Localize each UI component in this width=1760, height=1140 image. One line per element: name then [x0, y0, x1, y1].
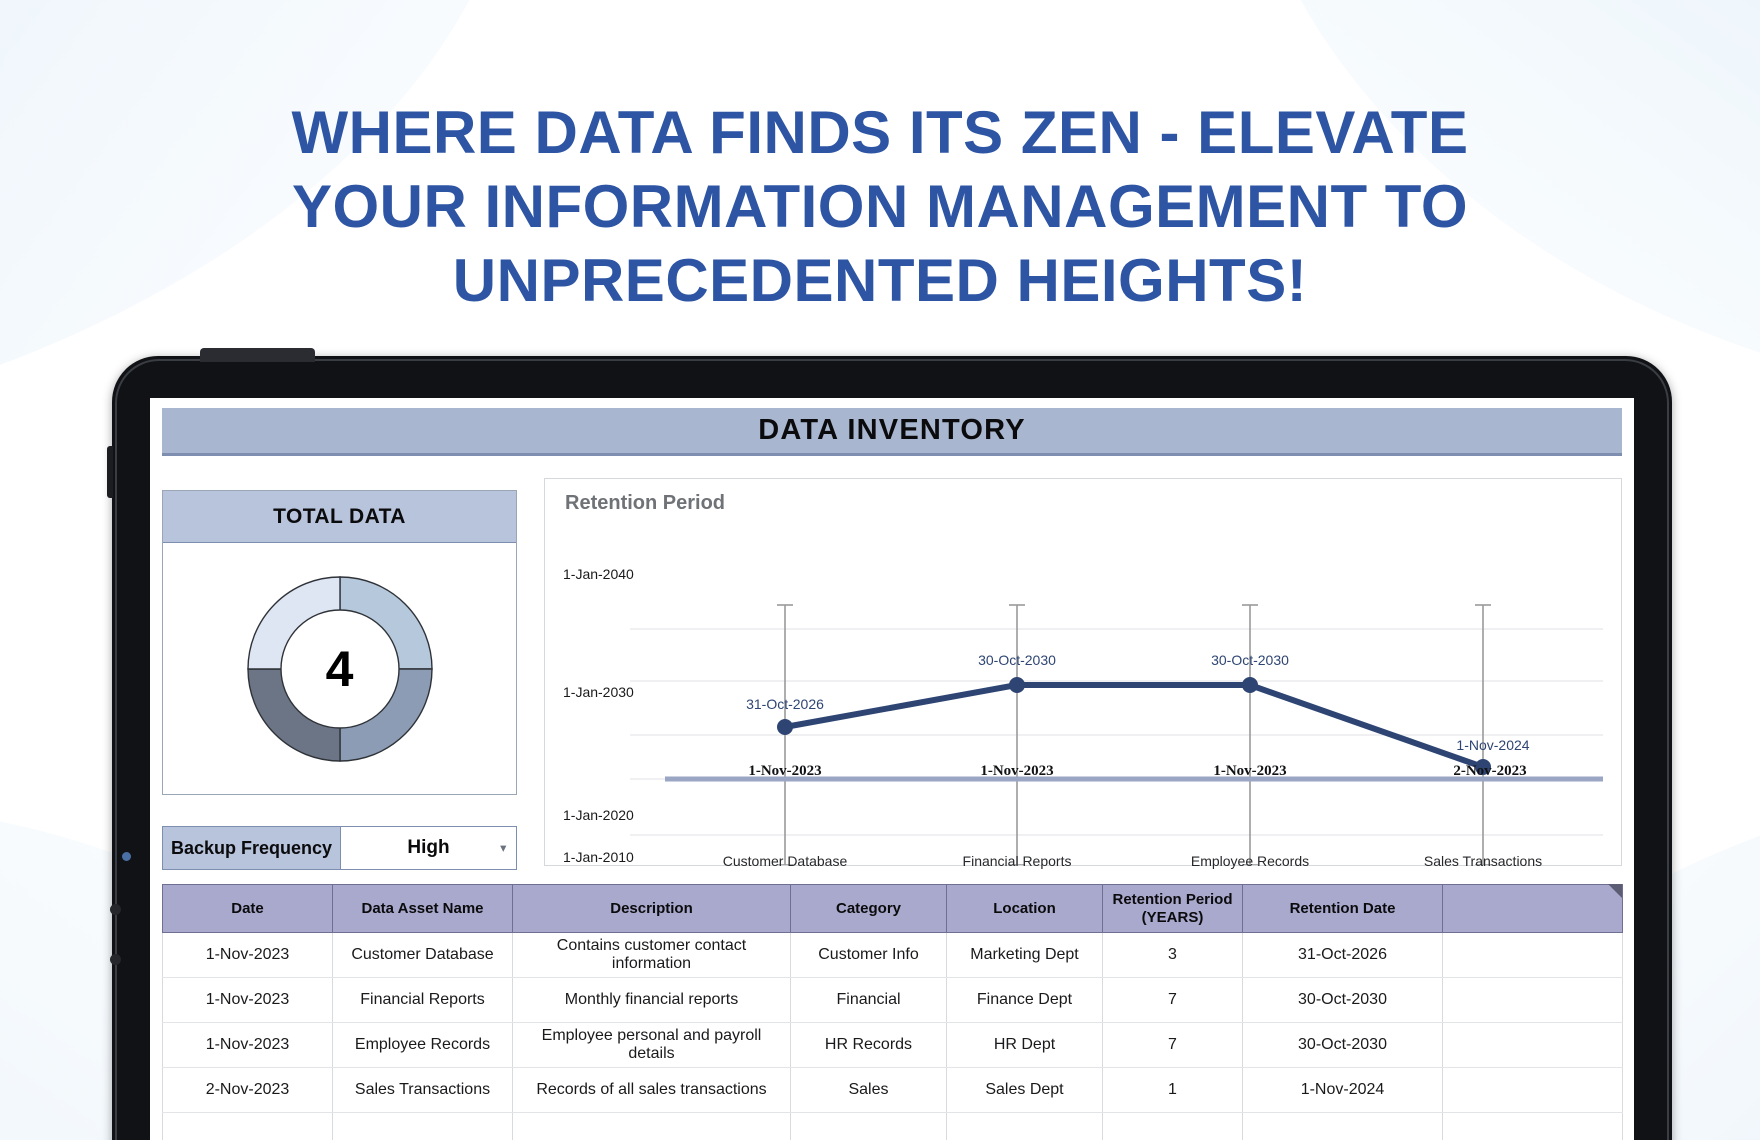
cell-date: [163, 1113, 333, 1140]
table-corner-fold-icon: [1608, 884, 1622, 898]
backup-frequency-select[interactable]: High ▾: [341, 827, 516, 869]
cell-date: 1-Nov-2023: [163, 933, 333, 978]
headline-line-1: WHERE DATA FINDS ITS ZEN - ELEVATE: [0, 96, 1760, 170]
chart-retention-label-0: 31-Oct-2026: [746, 696, 824, 712]
chart-date-label-1: 1-Nov-2023: [980, 763, 1053, 779]
chevron-down-icon[interactable]: ▾: [500, 842, 506, 855]
table-header-extra[interactable]: [1443, 885, 1623, 933]
backup-frequency-control[interactable]: Backup Frequency High ▾: [162, 826, 517, 870]
table-header-desc[interactable]: Description: [513, 885, 791, 933]
chart-ytick-1: 1-Jan-2030: [563, 684, 634, 700]
chart-y-axis-labels: 1-Jan-2040 1-Jan-2030 1-Jan-2020 1-Jan-2…: [563, 566, 634, 865]
page-headline: WHERE DATA FINDS ITS ZEN - ELEVATE YOUR …: [0, 96, 1760, 318]
cell-name: Sales Transactions: [333, 1068, 513, 1113]
table-row[interactable]: 2-Nov-2023 Sales Transactions Records of…: [163, 1068, 1623, 1113]
cell-retention-years: 3: [1103, 933, 1243, 978]
chart-ytick-2: 1-Jan-2020: [563, 807, 634, 823]
chart-date-label-3: 2-Nov-2023: [1453, 763, 1526, 779]
page-title: DATA INVENTORY: [758, 414, 1026, 447]
chart-retention-label-3: 1-Nov-2024: [1456, 737, 1529, 753]
cell-location: Sales Dept: [947, 1068, 1103, 1113]
cell-date: 1-Nov-2023: [163, 1023, 333, 1068]
chart-ytick-3: 1-Jan-2010: [563, 849, 634, 865]
table-row[interactable]: 1-Nov-2023 Financial Reports Monthly fin…: [163, 978, 1623, 1023]
headline-line-3: UNPRECEDENTED HEIGHTS!: [0, 244, 1760, 318]
cell-description: Records of all sales transactions: [513, 1068, 791, 1113]
tablet-camera-icon: [122, 852, 131, 861]
cell-extra: [1443, 1068, 1623, 1113]
cell-description: Contains customer contact information: [513, 933, 791, 978]
table-row[interactable]: 1-Nov-2023 Customer Database Contains cu…: [163, 933, 1623, 978]
tablet-screen: DATA INVENTORY TOTAL DATA: [150, 398, 1634, 1140]
cell-category: Customer Info: [791, 933, 947, 978]
cell-name: Employee Records: [333, 1023, 513, 1068]
cell-category: Sales: [791, 1068, 947, 1113]
cell-name: Customer Database: [333, 933, 513, 978]
cell-location: Finance Dept: [947, 978, 1103, 1023]
table-header-retention-date[interactable]: Retention Date: [1243, 885, 1443, 933]
data-inventory-table: Date Data Asset Name Description Categor…: [162, 884, 1622, 1140]
cell-retention-years: 1: [1103, 1068, 1243, 1113]
total-data-card-header: TOTAL DATA: [163, 491, 516, 543]
chart-retention-label-2: 30-Oct-2030: [1211, 652, 1289, 668]
cell-retention-date: 30-Oct-2030: [1243, 1023, 1443, 1068]
cell-date: 2-Nov-2023: [163, 1068, 333, 1113]
cell-description: Monthly financial reports: [513, 978, 791, 1023]
retention-chart-svg: 1-Jan-2040 1-Jan-2030 1-Jan-2020 1-Jan-2…: [545, 517, 1623, 865]
table-body: 1-Nov-2023 Customer Database Contains cu…: [163, 933, 1623, 1140]
total-data-donut-chart: 4: [163, 543, 516, 795]
table-header-name[interactable]: Data Asset Name: [333, 885, 513, 933]
cell-retention-date: 1-Nov-2024: [1243, 1068, 1443, 1113]
table-header-location[interactable]: Location: [947, 885, 1103, 933]
cell-extra: [1443, 1113, 1623, 1140]
total-data-card: TOTAL DATA: [162, 490, 517, 795]
retention-period-chart-panel: Retention Period: [544, 478, 1622, 866]
chart-plot-area: 1-Jan-2040 1-Jan-2030 1-Jan-2020 1-Jan-2…: [545, 517, 1623, 865]
chart-xtick-2: Employee Records: [1191, 853, 1309, 869]
chart-series-retention-points: [777, 677, 1491, 775]
cell-retention-years: [1103, 1113, 1243, 1140]
cell-location: [947, 1113, 1103, 1140]
cell-extra: [1443, 978, 1623, 1023]
cell-name: Financial Reports: [333, 978, 513, 1023]
headline-line-2: YOUR INFORMATION MANAGEMENT TO: [0, 170, 1760, 244]
chart-retention-point-labels: 31-Oct-2026 30-Oct-2030 30-Oct-2030 1-No…: [746, 652, 1530, 753]
dashboard-title-bar: DATA INVENTORY: [162, 408, 1622, 456]
cell-extra: [1443, 1023, 1623, 1068]
chart-xtick-1: Financial Reports: [963, 853, 1072, 869]
cell-category: Financial: [791, 978, 947, 1023]
tablet-device: DATA INVENTORY TOTAL DATA: [112, 356, 1672, 1140]
chart-ytick-0: 1-Jan-2040: [563, 566, 634, 582]
donut-center-value: 4: [163, 640, 516, 698]
cell-extra: [1443, 933, 1623, 978]
backup-frequency-label: Backup Frequency: [163, 827, 341, 869]
tablet-side-dot-1: [110, 904, 121, 915]
table-header-row: Date Data Asset Name Description Categor…: [163, 885, 1623, 933]
chart-retention-label-1: 30-Oct-2030: [978, 652, 1056, 668]
chart-date-label-0: 1-Nov-2023: [748, 763, 821, 779]
table-header-category[interactable]: Category: [791, 885, 947, 933]
chart-xtick-3: Sales Transactions: [1424, 853, 1542, 869]
cell-retention-years: 7: [1103, 1023, 1243, 1068]
cell-retention-years: 7: [1103, 978, 1243, 1023]
backup-frequency-value: High: [407, 837, 449, 859]
cell-retention-date: 30-Oct-2030: [1243, 978, 1443, 1023]
chart-series-retention-line: [785, 685, 1483, 767]
total-data-card-title: TOTAL DATA: [273, 505, 406, 529]
tablet-volume-button[interactable]: [107, 446, 113, 498]
cell-name: [333, 1113, 513, 1140]
cell-description: [513, 1113, 791, 1140]
table-header-date[interactable]: Date: [163, 885, 333, 933]
cell-description: Employee personal and payroll details: [513, 1023, 791, 1068]
chart-xtick-0: Customer Database: [723, 853, 848, 869]
chart-gridlines: [630, 629, 1603, 835]
table-header-retention-line1: Retention Period: [1112, 891, 1232, 908]
table-header-retention-period[interactable]: Retention Period (YEARS): [1103, 885, 1243, 933]
cell-category: HR Records: [791, 1023, 947, 1068]
tablet-side-dot-2: [110, 954, 121, 965]
chart-title: Retention Period: [565, 492, 725, 515]
cell-category: [791, 1113, 947, 1140]
cell-date: 1-Nov-2023: [163, 978, 333, 1023]
table-row[interactable]: [163, 1113, 1623, 1140]
tablet-top-notch: [200, 348, 315, 362]
dashboard: DATA INVENTORY TOTAL DATA: [150, 398, 1634, 1140]
cell-retention-date: [1243, 1113, 1443, 1140]
cell-retention-date: 31-Oct-2026: [1243, 933, 1443, 978]
table-row[interactable]: 1-Nov-2023 Employee Records Employee per…: [163, 1023, 1623, 1068]
table-header-retention-line2: (YEARS): [1142, 909, 1204, 926]
cell-location: Marketing Dept: [947, 933, 1103, 978]
cell-location: HR Dept: [947, 1023, 1103, 1068]
chart-date-label-2: 1-Nov-2023: [1213, 763, 1286, 779]
page-root: WHERE DATA FINDS ITS ZEN - ELEVATE YOUR …: [0, 0, 1760, 1140]
